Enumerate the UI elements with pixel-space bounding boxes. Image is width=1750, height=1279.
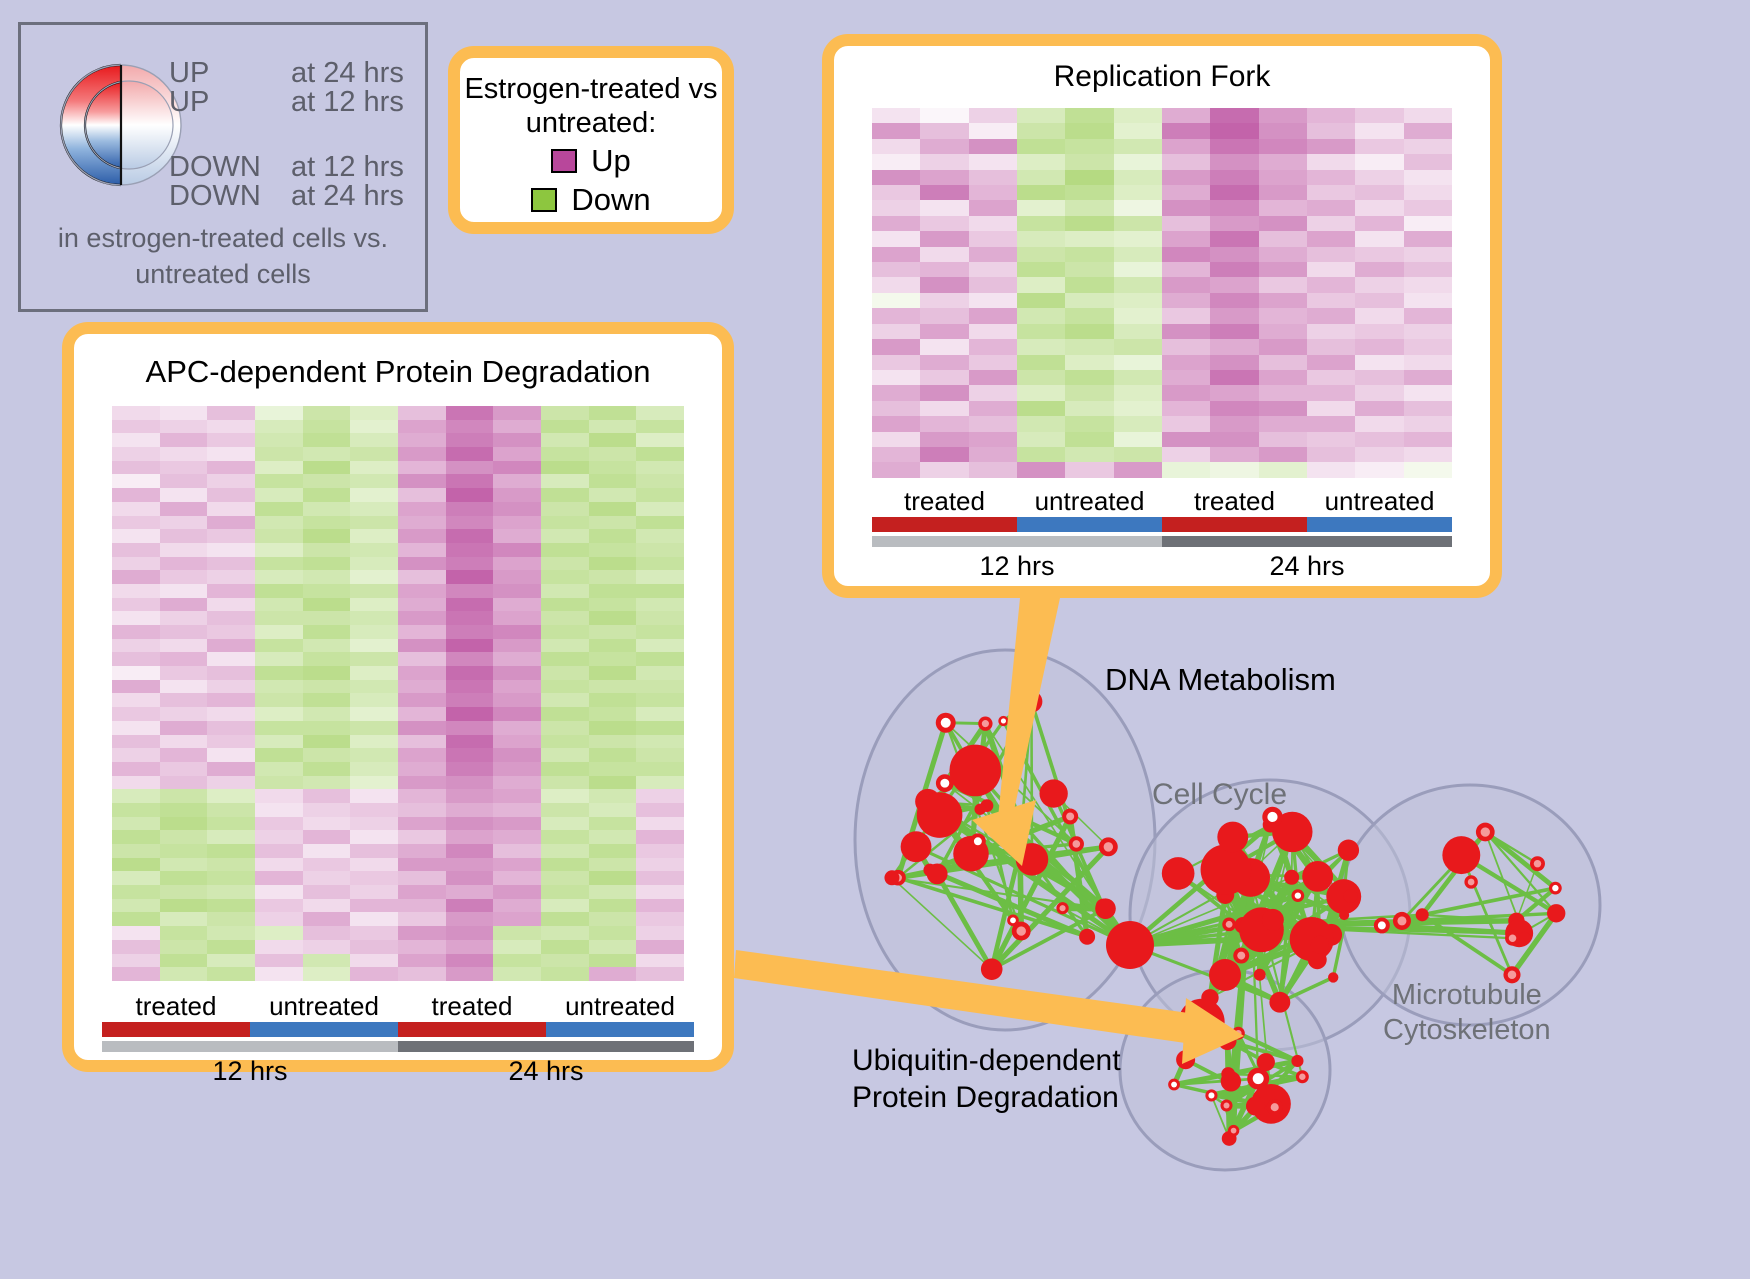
heatmap-cell: [398, 762, 446, 776]
heatmap-cell: [969, 416, 1017, 431]
heatmap-cell: [1017, 416, 1065, 431]
network-node[interactable]: [1079, 929, 1095, 945]
heatmap-cell: [1065, 462, 1113, 477]
heatmap-cell: [112, 693, 160, 707]
network-node[interactable]: [1176, 1050, 1195, 1069]
heatmap-cell: [969, 293, 1017, 308]
network-node[interactable]: [974, 804, 985, 815]
heatmap-cell: [446, 639, 494, 653]
heatmap-cell: [160, 488, 208, 502]
network-node[interactable]: [1179, 999, 1225, 1045]
heatmap-cell: [1017, 123, 1065, 138]
heatmap-cell: [350, 885, 398, 899]
heatmap-cell: [255, 529, 303, 543]
heatmap-cell: [1017, 339, 1065, 354]
heatmap-cell: [207, 625, 255, 639]
heatmap-cell: [1114, 432, 1162, 447]
heatmap-cell: [1355, 154, 1403, 169]
heatmap-cell: [920, 339, 968, 354]
heatmap-cell: [872, 231, 920, 246]
heatmap-cell: [636, 954, 684, 968]
heatmap-cell: [1017, 139, 1065, 154]
network-node[interactable]: [949, 745, 1001, 797]
heatmap-cell: [398, 447, 446, 461]
heatmap-cell: [1210, 200, 1258, 215]
heatmap-cell: [398, 912, 446, 926]
heatmap-cell: [1065, 154, 1113, 169]
heatmap-cell: [1259, 123, 1307, 138]
heatmap-cell: [872, 216, 920, 231]
heatmap-cell: [1065, 216, 1113, 231]
heatmap-cell: [446, 488, 494, 502]
heatmap-cell: [589, 707, 637, 721]
heatmap-cell: [112, 762, 160, 776]
heatmap-cell: [350, 474, 398, 488]
legend-label-up: Up: [591, 143, 631, 179]
heatmap-cell: [493, 776, 541, 790]
heatmap-cell: [350, 899, 398, 913]
heatmap-cell: [493, 584, 541, 598]
heatmap-cell: [446, 830, 494, 844]
heatmap-cell: [969, 277, 1017, 292]
heatmap-cell: [303, 666, 351, 680]
heatmap-cell: [1355, 108, 1403, 123]
heatmap-cell: [112, 584, 160, 598]
heatmap-cell: [398, 598, 446, 612]
heatmap-cell: [160, 940, 208, 954]
network-node[interactable]: [1020, 691, 1042, 713]
heatmap-cell: [1307, 462, 1355, 477]
heatmap-cell: [446, 570, 494, 584]
heatmap-cell: [112, 557, 160, 571]
heatmap-cell: [493, 844, 541, 858]
heatmap-cell: [589, 447, 637, 461]
heatmap-cell: [969, 447, 1017, 462]
heatmap-cell: [541, 858, 589, 872]
heatmap-cell: [1210, 385, 1258, 400]
heatmap-cell: [541, 652, 589, 666]
heatmap-cell: [541, 899, 589, 913]
heatmap-cell: [350, 666, 398, 680]
heatmap-cell: [303, 639, 351, 653]
network-node[interactable]: [981, 958, 1003, 980]
heatmap-cell: [541, 803, 589, 817]
heatmap-cell: [1017, 401, 1065, 416]
heatmap-cell: [207, 940, 255, 954]
key-row-down-12: DOWN at 12 hrs: [169, 153, 427, 182]
heatmap-cell: [160, 735, 208, 749]
heatmap-cell: [493, 858, 541, 872]
heatmap-cell: [255, 940, 303, 954]
heatmap-cell: [303, 557, 351, 571]
network-node[interactable]: [1217, 822, 1248, 853]
heatmap-cell: [1017, 370, 1065, 385]
heatmap-cell: [1065, 247, 1113, 262]
heatmap-cell: [255, 680, 303, 694]
heatmap-cell: [920, 139, 968, 154]
treatment-label: untreated: [546, 991, 694, 1022]
heatmap-cell: [1065, 432, 1113, 447]
heatmap-cell: [1355, 308, 1403, 323]
heatmap-cell: [160, 652, 208, 666]
heatmap-cell: [541, 954, 589, 968]
replication-fork-heatmap: [872, 108, 1452, 478]
heatmap-cell: [1017, 216, 1065, 231]
heatmap-cell: [207, 693, 255, 707]
heatmap-cell: [207, 817, 255, 831]
heatmap-cell: [920, 154, 968, 169]
heatmap-cell: [1404, 247, 1452, 262]
heatmap-cell: [969, 154, 1017, 169]
treatment-color-bar: [872, 517, 1452, 532]
heatmap-cell: [255, 885, 303, 899]
heatmap-cell: [255, 707, 303, 721]
network-node[interactable]: [901, 831, 932, 862]
network-node[interactable]: [1106, 921, 1154, 969]
heatmap-cell: [350, 830, 398, 844]
color-key-box: UP at 24 hrs UP at 12 hrs DOWN at 12 hrs…: [18, 22, 428, 312]
heatmap-cell: [969, 170, 1017, 185]
heatmap-cell: [1259, 385, 1307, 400]
heatmap-cell: [1307, 324, 1355, 339]
heatmap-cell: [207, 912, 255, 926]
network-node[interactable]: [1547, 904, 1565, 922]
heatmap-cell: [636, 557, 684, 571]
heatmap-cell: [1404, 339, 1452, 354]
heatmap-cell: [1259, 231, 1307, 246]
network-node-core: [982, 720, 989, 727]
heatmap-cell: [589, 611, 637, 625]
heatmap-cell: [589, 967, 637, 981]
heatmap-cell: [398, 652, 446, 666]
heatmap-cell: [636, 721, 684, 735]
heatmap-cell: [541, 721, 589, 735]
network-node[interactable]: [1209, 959, 1241, 991]
heatmap-cell: [160, 420, 208, 434]
heatmap-cell: [255, 817, 303, 831]
heatmap-cell: [541, 543, 589, 557]
heatmap-cell: [636, 611, 684, 625]
treatment-bar-segment: [1307, 517, 1452, 532]
heatmap-cell: [589, 666, 637, 680]
network-node[interactable]: [1246, 1097, 1265, 1116]
heatmap-cell: [589, 680, 637, 694]
heatmap-cell: [112, 912, 160, 926]
heatmap-cell: [1210, 277, 1258, 292]
heatmap-cell: [920, 355, 968, 370]
heatmap-cell: [872, 416, 920, 431]
heatmap-cell: [872, 154, 920, 169]
heatmap-cell: [1259, 416, 1307, 431]
network-node[interactable]: [917, 792, 963, 838]
heatmap-cell: [160, 433, 208, 447]
network-node[interactable]: [1262, 909, 1284, 931]
heatmap-cell: [398, 666, 446, 680]
network-node[interactable]: [1254, 969, 1266, 981]
heatmap-cell: [1210, 432, 1258, 447]
heatmap-cell: [446, 735, 494, 749]
heatmap-cell: [1017, 185, 1065, 200]
heatmap-cell: [350, 912, 398, 926]
heatmap-cell: [1017, 447, 1065, 462]
heatmap-cell: [636, 570, 684, 584]
heatmap-cell: [446, 625, 494, 639]
heatmap-cell: [160, 926, 208, 940]
heatmap-cell: [446, 967, 494, 981]
heatmap-cell: [636, 502, 684, 516]
heatmap-cell: [112, 611, 160, 625]
heatmap-cell: [969, 262, 1017, 277]
heatmap-cell: [1065, 123, 1113, 138]
heatmap-cell: [207, 529, 255, 543]
network-node[interactable]: [1201, 844, 1252, 895]
heatmap-cell: [1114, 293, 1162, 308]
heatmap-cell: [1355, 170, 1403, 185]
heatmap-cell: [920, 370, 968, 385]
network-node[interactable]: [1016, 843, 1049, 876]
heatmap-cell: [541, 940, 589, 954]
heatmap-cell: [541, 488, 589, 502]
heatmap-cell: [350, 611, 398, 625]
network-node[interactable]: [1416, 908, 1429, 921]
heatmap-cell: [541, 776, 589, 790]
heatmap-cell: [1259, 293, 1307, 308]
network-node[interactable]: [1284, 870, 1299, 885]
network-node-core: [1271, 1103, 1279, 1111]
heatmap-cell: [1114, 108, 1162, 123]
heatmap-cell: [1017, 231, 1065, 246]
network-node[interactable]: [1039, 779, 1067, 807]
heatmap-cell: [350, 967, 398, 981]
heatmap-cell: [1355, 277, 1403, 292]
heatmap-cell: [493, 680, 541, 694]
heatmap-cell: [1307, 385, 1355, 400]
network-node[interactable]: [1302, 861, 1333, 892]
heatmap-cell: [303, 406, 351, 420]
heatmap-cell: [350, 598, 398, 612]
heatmap-cell: [1307, 185, 1355, 200]
heatmap-cell: [160, 912, 208, 926]
heatmap-cell: [541, 666, 589, 680]
heatmap-cell: [872, 339, 920, 354]
heatmap-cell: [207, 447, 255, 461]
heatmap-cell: [1017, 277, 1065, 292]
network-node[interactable]: [1519, 932, 1530, 943]
heatmap-cell: [303, 433, 351, 447]
heatmap-cell: [160, 844, 208, 858]
heatmap-cell: [920, 262, 968, 277]
heatmap-cell: [350, 707, 398, 721]
heatmap-cell: [160, 598, 208, 612]
heatmap-cell: [160, 584, 208, 598]
heatmap-cell: [872, 262, 920, 277]
heatmap-cell: [255, 735, 303, 749]
heatmap-cell: [920, 447, 968, 462]
heatmap-cell: [255, 543, 303, 557]
network-node[interactable]: [1338, 840, 1359, 861]
network-node[interactable]: [927, 863, 948, 884]
network-node[interactable]: [1344, 889, 1358, 903]
heatmap-cell: [112, 776, 160, 790]
heatmap-cell: [969, 247, 1017, 262]
heatmap-cell: [112, 488, 160, 502]
key-time-label: at 12 hrs: [291, 88, 404, 117]
heatmap-cell: [112, 447, 160, 461]
heatmap-cell: [1307, 432, 1355, 447]
heatmap-cell: [160, 570, 208, 584]
heatmap-cell: [255, 406, 303, 420]
heatmap-cell: [446, 954, 494, 968]
heatmap-cell: [493, 940, 541, 954]
network-node[interactable]: [1095, 898, 1116, 919]
heatmap-cell: [969, 231, 1017, 246]
heatmap-cell: [1404, 154, 1452, 169]
time-label: 24 hrs: [398, 1056, 694, 1087]
heatmap-cell: [636, 858, 684, 872]
heatmap-cell: [969, 355, 1017, 370]
network-node-core: [1066, 812, 1074, 820]
replication-fork-annotations: treated untreated treated untreated 12 h…: [872, 486, 1452, 582]
heatmap-cell: [1114, 462, 1162, 477]
heatmap-cell: [350, 639, 398, 653]
heatmap-cell: [1065, 108, 1113, 123]
network-node[interactable]: [1162, 857, 1195, 890]
heatmap-cell: [1355, 432, 1403, 447]
time-bar-segment: [102, 1041, 398, 1052]
heatmap-cell: [1065, 447, 1113, 462]
heatmap-cell: [303, 776, 351, 790]
heatmap-cell: [541, 502, 589, 516]
heatmap-cell: [446, 721, 494, 735]
heatmap-cell: [1307, 216, 1355, 231]
heatmap-cell: [1355, 401, 1403, 416]
heatmap-cell: [1404, 416, 1452, 431]
heatmap-cell: [1017, 324, 1065, 339]
heatmap-cell: [160, 707, 208, 721]
heatmap-cell: [398, 858, 446, 872]
heatmap-cell: [1065, 324, 1113, 339]
heatmap-cell: [112, 502, 160, 516]
heatmap-cell: [350, 461, 398, 475]
heatmap-cell: [541, 598, 589, 612]
heatmap-cell: [207, 789, 255, 803]
heatmap-cell: [636, 433, 684, 447]
heatmap-cell: [636, 912, 684, 926]
time-label: 12 hrs: [872, 551, 1162, 582]
heatmap-cell: [160, 817, 208, 831]
network-node[interactable]: [1442, 836, 1480, 874]
heatmap-cell: [255, 776, 303, 790]
heatmap-cell: [350, 858, 398, 872]
heatmap-cell: [1017, 247, 1065, 262]
heatmap-cell: [207, 570, 255, 584]
heatmap-cell: [1355, 416, 1403, 431]
network-node[interactable]: [1311, 936, 1329, 954]
heatmap-cell: [160, 406, 208, 420]
heatmap-cell: [207, 639, 255, 653]
heatmap-cell: [112, 420, 160, 434]
network-node[interactable]: [884, 870, 899, 885]
network-node[interactable]: [1291, 1055, 1303, 1067]
heatmap-cell: [207, 433, 255, 447]
network-node[interactable]: [1328, 972, 1338, 982]
heatmap-cell: [398, 557, 446, 571]
treatment-bar-segment: [546, 1022, 694, 1037]
heatmap-cell: [493, 830, 541, 844]
heatmap-cell: [1162, 293, 1210, 308]
heatmap-cell: [1210, 139, 1258, 154]
heatmap-cell: [541, 885, 589, 899]
treatment-bar-segment: [1017, 517, 1162, 532]
heatmap-cell: [589, 543, 637, 557]
treatment-label: treated: [872, 486, 1017, 517]
heatmap-cell: [255, 433, 303, 447]
heatmap-cell: [1162, 108, 1210, 123]
heatmap-cell: [589, 776, 637, 790]
heatmap-cell: [541, 433, 589, 447]
heatmap-cell: [446, 817, 494, 831]
heatmap-cell: [350, 406, 398, 420]
heatmap-cell: [493, 474, 541, 488]
heatmap-cell: [112, 954, 160, 968]
heatmap-cell: [1114, 447, 1162, 462]
heatmap-cell: [112, 844, 160, 858]
heatmap-cell: [1114, 355, 1162, 370]
network-node-core: [1171, 1082, 1177, 1088]
heatmap-cell: [493, 543, 541, 557]
heatmap-cell: [398, 502, 446, 516]
heatmap-cell: [541, 762, 589, 776]
heatmap-cell: [350, 926, 398, 940]
heatmap-cell: [1210, 108, 1258, 123]
heatmap-cell: [207, 762, 255, 776]
heatmap-cell: [446, 844, 494, 858]
network-node[interactable]: [1339, 910, 1349, 920]
heatmap-cell: [589, 474, 637, 488]
heatmap-cell: [398, 639, 446, 653]
heatmap-cell: [255, 803, 303, 817]
figure-root: UP at 24 hrs UP at 12 hrs DOWN at 12 hrs…: [0, 0, 1750, 1279]
heatmap-cell: [541, 693, 589, 707]
heatmap-cell: [350, 652, 398, 666]
legend-item-down: Down: [460, 182, 722, 218]
heatmap-cell: [112, 940, 160, 954]
heatmap-cell: [1259, 355, 1307, 370]
heatmap-cell: [350, 789, 398, 803]
heatmap-cell: [255, 912, 303, 926]
network-node[interactable]: [1269, 992, 1290, 1013]
heatmap-cell: [1114, 370, 1162, 385]
heatmap-cell: [1065, 370, 1113, 385]
heatmap-cell: [350, 488, 398, 502]
apc-degradation-annotations: treated untreated treated untreated 12 h…: [102, 991, 694, 1087]
heatmap-cell: [1210, 308, 1258, 323]
treatment-bar-segment: [102, 1022, 250, 1037]
heatmap-cell: [207, 666, 255, 680]
heatmap-cell: [112, 899, 160, 913]
heatmap-cell: [1259, 308, 1307, 323]
heatmap-cell: [1259, 216, 1307, 231]
network-node[interactable]: [1257, 1053, 1275, 1071]
heatmap-cell: [255, 570, 303, 584]
heatmap-cell: [255, 666, 303, 680]
network-node[interactable]: [1221, 1067, 1235, 1081]
heatmap-cell: [255, 899, 303, 913]
heatmap-cell: [398, 474, 446, 488]
heatmap-cell: [589, 748, 637, 762]
heatmap-cell: [112, 529, 160, 543]
heatmap-cell: [446, 516, 494, 530]
